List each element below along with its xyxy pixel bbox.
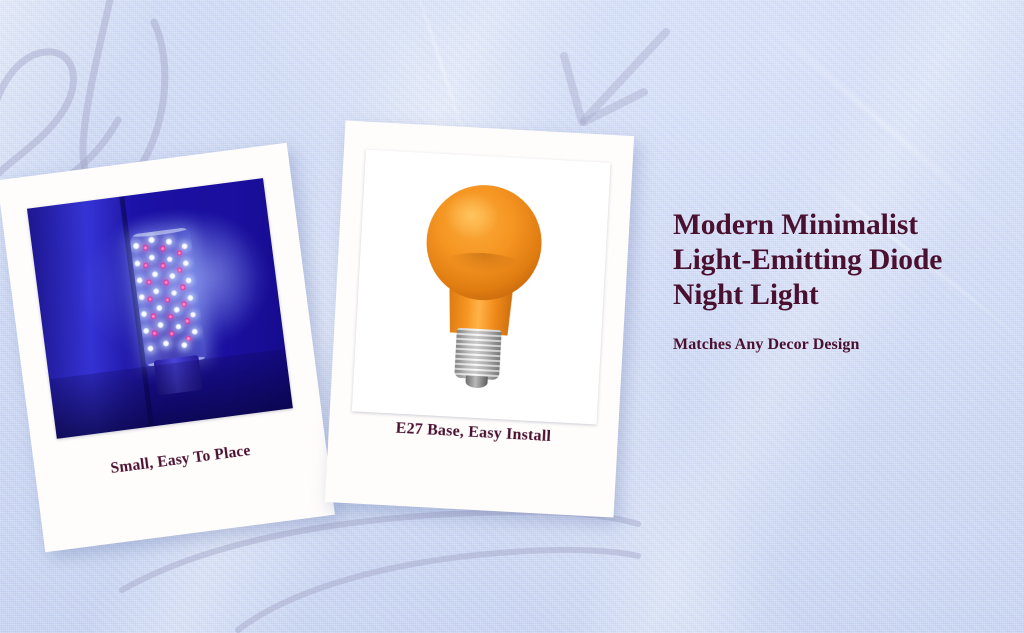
- copy-block: Modern Minimalist Light-Emitting Diode N…: [673, 208, 1003, 354]
- subtitle: Matches Any Decor Design: [673, 336, 1003, 354]
- stamp-card-led[interactable]: Small, Easy To Place: [0, 143, 335, 552]
- page-title: Modern Minimalist Light-Emitting Diode N…: [673, 208, 1003, 313]
- corn-led-bulb-photo: [27, 178, 293, 439]
- stamp-card-bulb[interactable]: E27 Base, Easy Install: [325, 120, 634, 517]
- banner-stage: Small, Easy To Place E27 Base, Easy Inst…: [0, 0, 1024, 633]
- orange-bulb-photo: [352, 150, 611, 425]
- e27-screw-base: [454, 328, 502, 380]
